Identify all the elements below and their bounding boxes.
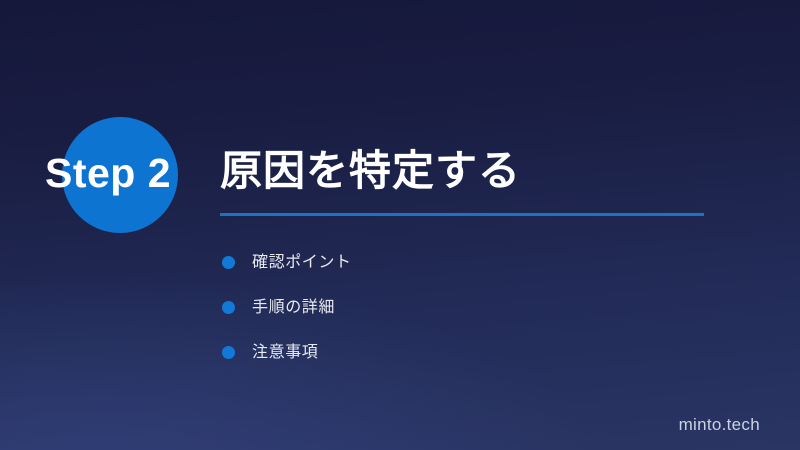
list-item: 注意事項	[222, 330, 352, 375]
footer-brand: minto.tech	[679, 416, 760, 433]
bullet-dot-icon	[222, 346, 235, 359]
list-item-label: 注意事項	[252, 345, 318, 361]
slide-content: Step 2 原因を特定する 確認ポイント 手順の詳細 注意事項 minto.t…	[0, 0, 800, 450]
page-title: 原因を特定する	[220, 148, 521, 194]
list-item-label: 確認ポイント	[252, 255, 352, 271]
bullet-list: 確認ポイント 手順の詳細 注意事項	[222, 240, 352, 375]
list-item-label: 手順の詳細	[252, 300, 335, 316]
bullet-dot-icon	[222, 301, 235, 314]
step-label: Step 2	[45, 153, 171, 194]
list-item: 確認ポイント	[222, 240, 352, 285]
slide-canvas: Step 2 原因を特定する 確認ポイント 手順の詳細 注意事項 minto.t…	[0, 0, 800, 450]
title-divider	[220, 213, 704, 216]
bullet-dot-icon	[222, 256, 235, 269]
list-item: 手順の詳細	[222, 285, 352, 330]
